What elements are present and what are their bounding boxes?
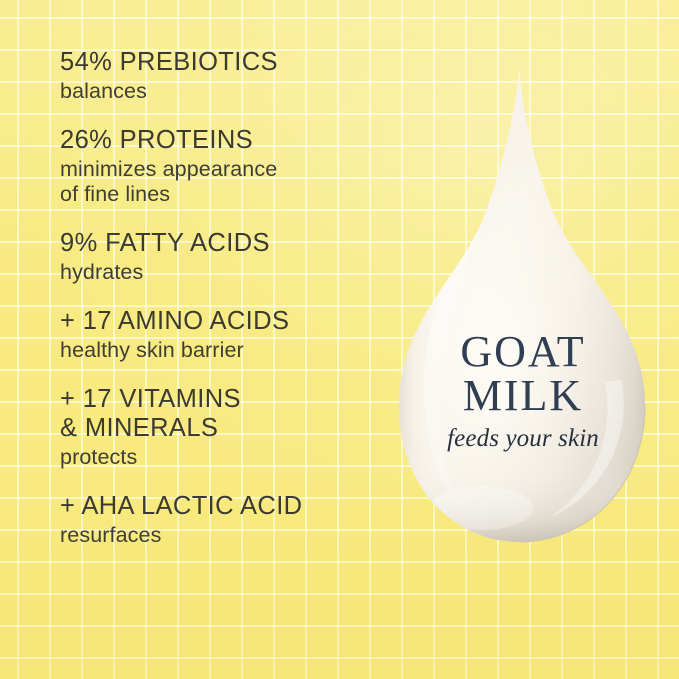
ingredient-list: 54% PREBIOTICS balances 26% PROTEINS min… <box>60 48 380 548</box>
droplet-icon <box>389 62 657 549</box>
ingredient-benefit: hydrates <box>60 260 380 285</box>
ingredient-title: + 17 AMINO ACIDS <box>60 307 380 336</box>
ingredient-title: + AHA LACTIC ACID <box>60 492 380 521</box>
ingredient-benefit: resurfaces <box>60 523 380 548</box>
ingredient-benefit: minimizes appearance of fine lines <box>60 157 380 207</box>
ingredient-benefit: balances <box>60 79 380 104</box>
ingredient-item-amino-acids: + 17 AMINO ACIDS healthy skin barrier <box>60 307 380 363</box>
ingredient-title: 26% PROTEINS <box>60 126 380 155</box>
milk-droplet: GOAT MILK feeds your skin <box>389 62 657 549</box>
ingredient-title: + 17 VITAMINS & MINERALS <box>60 385 380 443</box>
ingredient-benefit: healthy skin barrier <box>60 338 380 363</box>
ingredient-item-fatty-acids: 9% FATTY ACIDS hydrates <box>60 229 380 285</box>
droplet-bottom-glint <box>429 486 533 530</box>
ingredient-item-proteins: 26% PROTEINS minimizes appearance of fin… <box>60 126 380 207</box>
infographic-poster: 54% PREBIOTICS balances 26% PROTEINS min… <box>0 0 679 679</box>
ingredient-title: 9% FATTY ACIDS <box>60 229 380 258</box>
ingredient-benefit: protects <box>60 445 380 470</box>
ingredient-title: 54% PREBIOTICS <box>60 48 380 77</box>
ingredient-item-vitamins-minerals: + 17 VITAMINS & MINERALS protects <box>60 385 380 470</box>
ingredient-item-aha-lactic-acid: + AHA LACTIC ACID resurfaces <box>60 492 380 548</box>
ingredient-item-prebiotics: 54% PREBIOTICS balances <box>60 48 380 104</box>
